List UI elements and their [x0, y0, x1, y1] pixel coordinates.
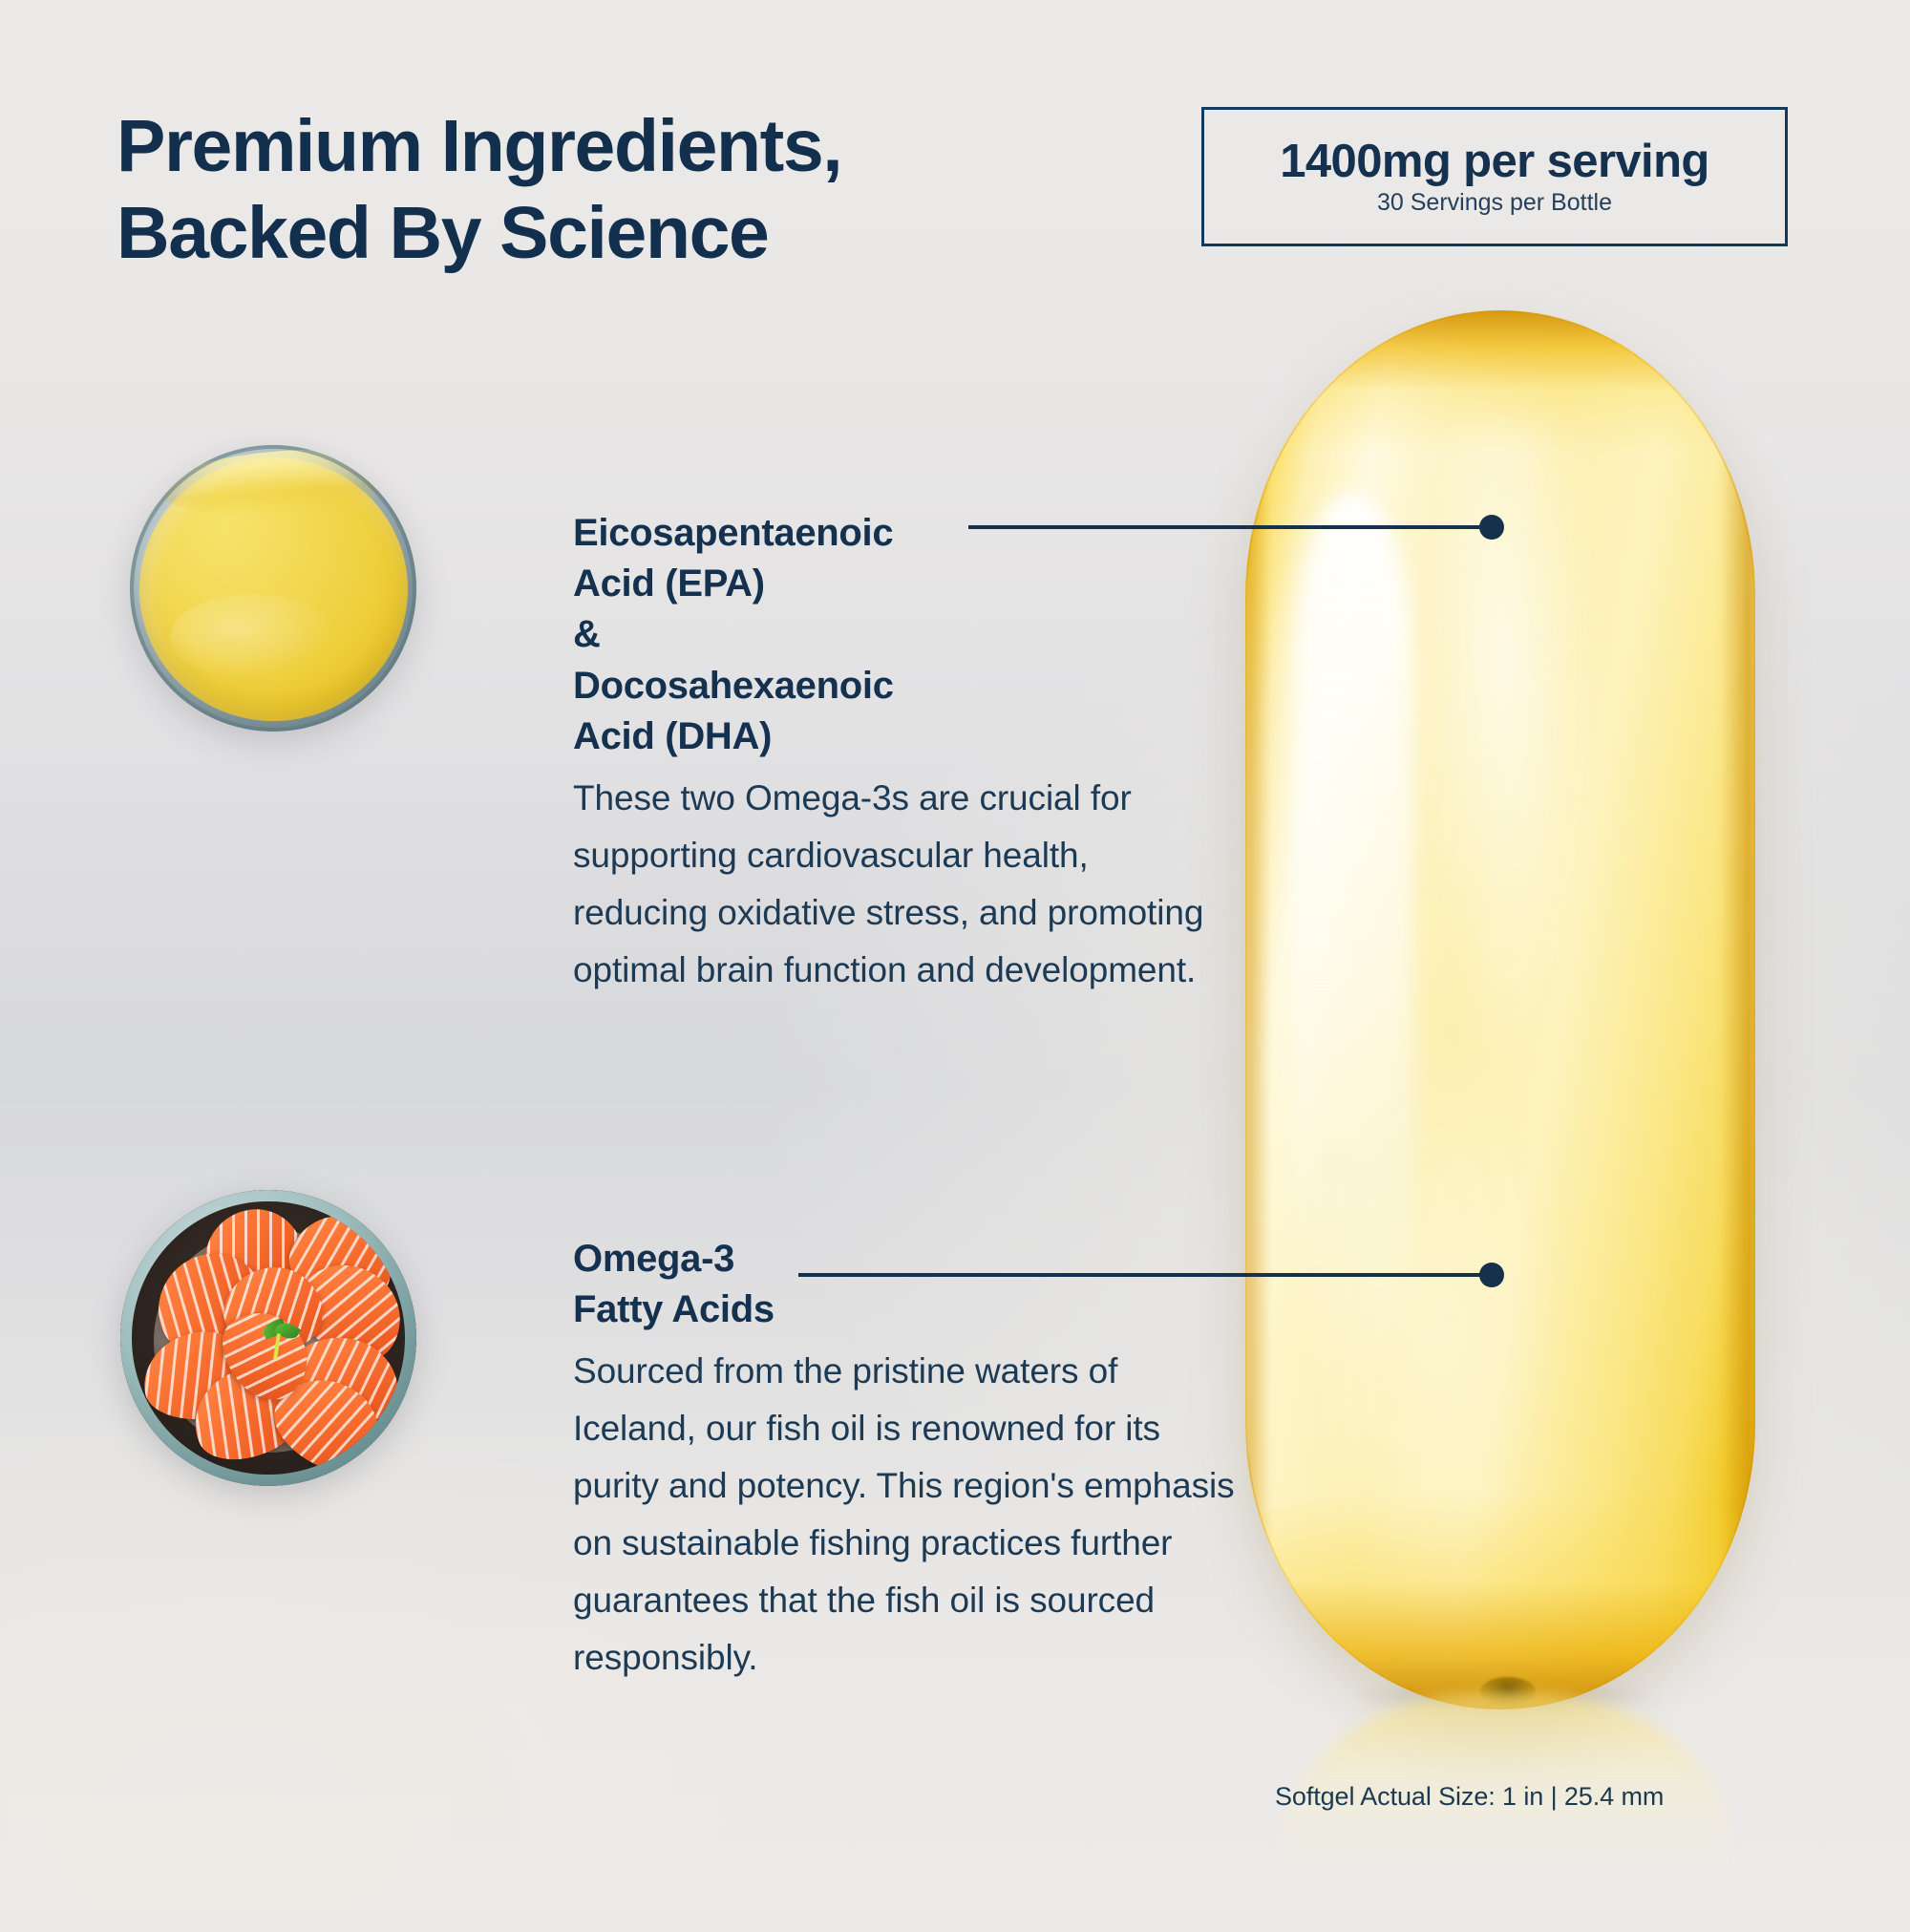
bowl-interior	[132, 1201, 404, 1474]
callout-omega-3-title: Omega-3 Fatty Acids	[573, 1234, 1241, 1335]
capsule-right-edge	[1720, 422, 1755, 1598]
leader-dot-omega-3	[1479, 1263, 1504, 1287]
callout-title-line: Fatty Acids	[573, 1284, 1241, 1335]
page-title-line-1: Premium Ingredients,	[117, 103, 938, 190]
callout-title-line: Omega-3	[573, 1234, 1241, 1284]
dose-amount: 1400mg per serving	[1280, 138, 1708, 185]
callout-epa-dha-body: These two Omega-3s are crucial for suppo…	[573, 770, 1232, 999]
capsule-left-edge	[1245, 451, 1271, 1570]
page-title-line-2: Backed By Science	[117, 190, 938, 277]
page-title: Premium Ingredients, Backed By Science	[117, 103, 938, 277]
garnish-stem	[273, 1333, 281, 1360]
callout-title-line: Acid (EPA)	[573, 559, 1232, 609]
petri-dish-thumbnail	[130, 445, 416, 732]
callout-title-line: Acid (DHA)	[573, 711, 1232, 762]
dose-badge: 1400mg per serving 30 Servings per Bottl…	[1201, 107, 1788, 246]
petri-dish-edge	[130, 445, 416, 732]
callout-omega-3-body: Sourced from the pristine waters of Icel…	[573, 1343, 1241, 1687]
capsule-lower-highlight	[1326, 1038, 1561, 1598]
callout-title-line: Docosahexaenoic	[573, 661, 1232, 711]
softgel-size-caption: Softgel Actual Size: 1 in | 25.4 mm	[1275, 1782, 1664, 1812]
capsule-secondary-highlight	[1419, 422, 1593, 1066]
callout-title-line: Eicosapentaenoic	[573, 508, 1232, 559]
callout-epa-dha: Eicosapentaenoic Acid (EPA) & Docosahexa…	[573, 508, 1232, 999]
leader-dot-epa-dha	[1479, 515, 1504, 540]
dose-servings: 30 Servings per Bottle	[1377, 191, 1612, 215]
callout-epa-dha-title: Eicosapentaenoic Acid (EPA) & Docosahexa…	[573, 508, 1232, 762]
salmon-bowl-thumbnail	[120, 1190, 416, 1486]
callout-omega-3: Omega-3 Fatty Acids Sourced from the pri…	[573, 1234, 1241, 1687]
callout-title-line: &	[573, 609, 1232, 660]
herb-garnish	[263, 1322, 301, 1364]
